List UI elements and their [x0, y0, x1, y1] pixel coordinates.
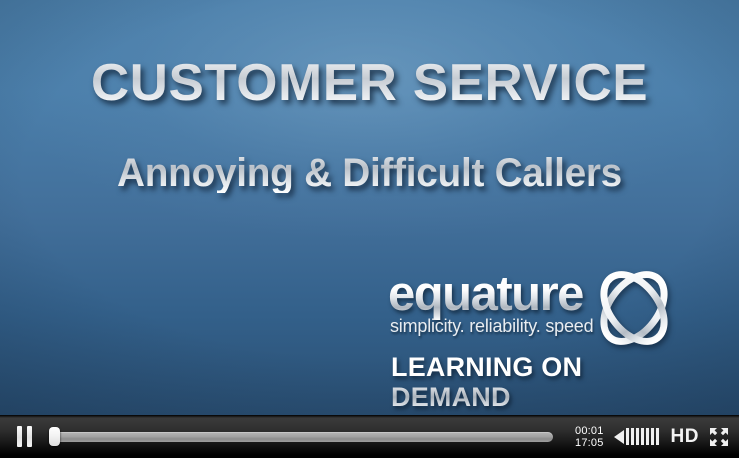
- volume-control[interactable]: [614, 415, 659, 458]
- progress-handle[interactable]: [49, 427, 60, 446]
- slide-subtitle: Annoying & Difficult Callers: [11, 109, 728, 193]
- volume-bar[interactable]: [626, 428, 629, 445]
- play-pause-button[interactable]: [0, 415, 39, 458]
- volume-bar[interactable]: [651, 428, 654, 445]
- progress-track[interactable]: [55, 432, 554, 442]
- player-control-bar[interactable]: 00:01 17:05 HD: [0, 415, 739, 458]
- fullscreen-button[interactable]: [709, 415, 729, 458]
- volume-bar[interactable]: [646, 428, 649, 445]
- volume-bar[interactable]: [631, 428, 634, 445]
- current-time: 00:01: [559, 425, 603, 437]
- speaker-icon[interactable]: [614, 430, 624, 444]
- time-display: 00:01 17:05: [559, 425, 603, 449]
- volume-level-bars[interactable]: [626, 428, 659, 445]
- volume-bar[interactable]: [636, 428, 639, 445]
- equature-logo: equature simplicity. reliability. speed: [388, 268, 698, 388]
- fullscreen-icon: [709, 427, 729, 447]
- logo-wordmark: equature: [388, 268, 583, 320]
- hd-quality-button[interactable]: HD: [669, 415, 701, 458]
- volume-bar[interactable]: [641, 428, 644, 445]
- video-stage[interactable]: CUSTOMER SERVICE Annoying & Difficult Ca…: [0, 0, 739, 415]
- slide-title: CUSTOMER SERVICE: [0, 0, 739, 109]
- total-duration: 17:05: [559, 437, 603, 449]
- atom-orbit-icon: [586, 262, 682, 354]
- progress-scrubber[interactable]: [43, 415, 554, 458]
- logo-tagline: simplicity. reliability. speed: [390, 316, 593, 336]
- slide-titles: CUSTOMER SERVICE Annoying & Difficult Ca…: [0, 0, 739, 193]
- logo-program-label: LEARNING ON DEMAND: [391, 352, 698, 412]
- video-player[interactable]: CUSTOMER SERVICE Annoying & Difficult Ca…: [0, 0, 739, 458]
- pause-icon: [17, 426, 32, 447]
- volume-bar[interactable]: [656, 428, 659, 445]
- logo-wordmark-row: equature simplicity. reliability. speed: [388, 268, 698, 338]
